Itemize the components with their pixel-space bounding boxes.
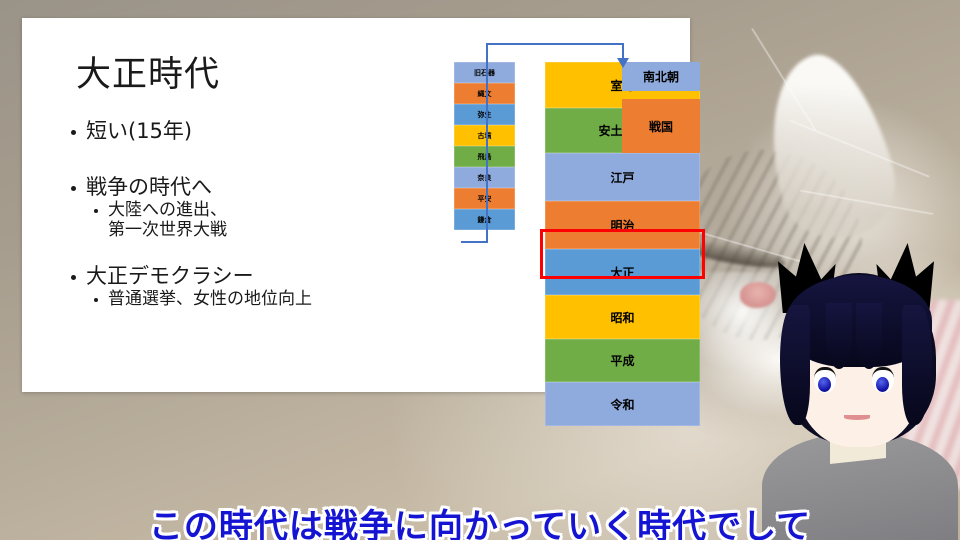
era-segment-modern-4: 大正 <box>545 249 700 295</box>
list-item: 大正デモクラシー <box>66 263 466 289</box>
avatar-pupil-left <box>818 377 831 392</box>
bullet-list: 短い(15年) 戦争の時代へ 大陸への進出、 第一次世界大戦 大正デモクラシー … <box>66 118 466 309</box>
era-segment-ancient-6: 平安 <box>454 188 515 209</box>
era-segment-ancient-3: 古墳 <box>454 125 515 146</box>
era-segment-ancient-5: 奈良 <box>454 167 515 188</box>
avatar-pupil-right <box>876 377 889 392</box>
avatar-sidelock-left <box>780 305 810 425</box>
era-segment-nanbokucho: 南北朝 <box>622 62 700 91</box>
era-segment-ancient-1: 縄文 <box>454 83 515 104</box>
era-segment-modern-5: 昭和 <box>545 295 700 339</box>
list-item: 大陸への進出、 第一次世界大戦 <box>66 200 466 241</box>
modern-era-column: 室町安土桃山江戸明治大正昭和平成令和南北朝 戦国 <box>545 62 700 426</box>
avatar-bang <box>826 303 852 369</box>
era-segment-modern-6: 平成 <box>545 339 700 382</box>
spacer <box>66 144 466 174</box>
list-item: 普通選挙、女性の地位向上 <box>66 289 466 309</box>
era-segment-ancient-0: 旧石器 <box>454 62 515 83</box>
list-item: 戦争の時代へ <box>66 174 466 200</box>
era-segment-modern-2: 江戸 <box>545 153 700 201</box>
ancient-era-column: 旧石器縄文弥生古墳飛鳥奈良平安鎌倉 <box>454 62 515 230</box>
avatar-bang <box>856 303 882 369</box>
era-segment-sengoku: 戦国 <box>622 99 700 153</box>
era-segment-ancient-4: 飛鳥 <box>454 146 515 167</box>
era-segment-modern-3: 明治 <box>545 201 700 249</box>
era-segment-ancient-7: 鎌倉 <box>454 209 515 230</box>
era-timeline-diagram: 旧石器縄文弥生古墳飛鳥奈良平安鎌倉 室町安土桃山江戸明治大正昭和平成令和南北朝 … <box>447 36 709 410</box>
subtitle-caption: この時代は戦争に向かっていく時代でして 日本が大陸、中国の方に進出していったり <box>0 418 960 540</box>
page-title: 大正時代 <box>76 46 220 97</box>
era-segment-ancient-2: 弥生 <box>454 104 515 125</box>
spacer <box>66 241 466 263</box>
list-item: 短い(15年) <box>66 118 466 144</box>
slide-card: 大正時代 短い(15年) 戦争の時代へ 大陸への進出、 第一次世界大戦 大正デモ… <box>22 18 690 392</box>
subtitle-line-1: この時代は戦争に向かっていく時代でして <box>0 506 960 540</box>
